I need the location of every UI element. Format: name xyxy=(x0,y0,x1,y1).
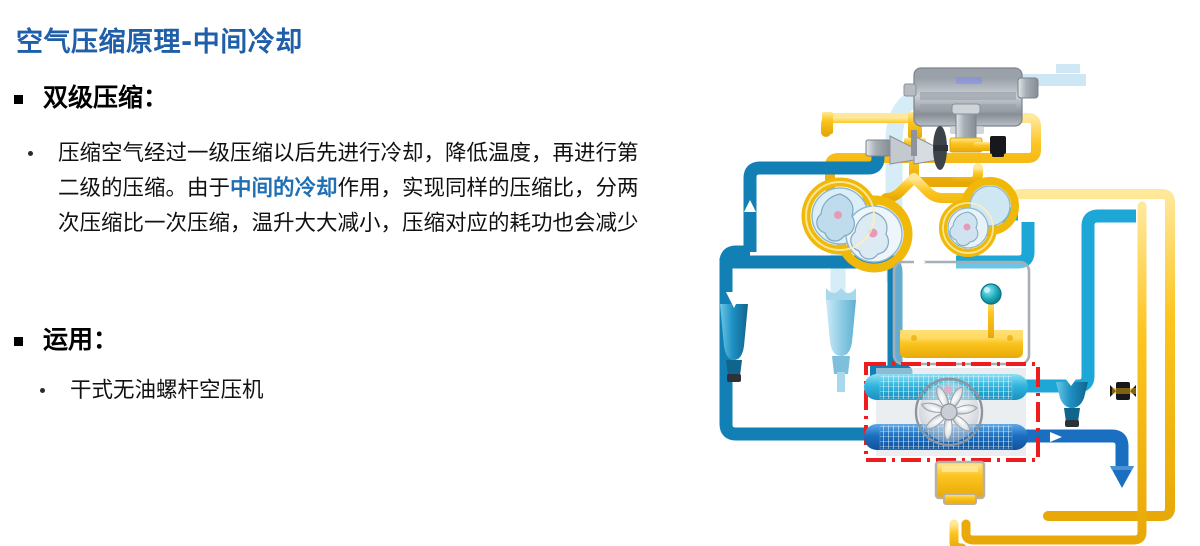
slide-canvas: 空气压缩原理-中间冷却 双级压缩： 压缩空气经过一级压缩以后先进行冷却，降低温度… xyxy=(0,0,1200,546)
compressor-schematic-diagram xyxy=(718,46,1200,546)
air-pipe-to-aftercooler-left xyxy=(726,416,868,434)
section-heading-label: 运用： xyxy=(43,326,118,355)
air-pipe-intercooler-out xyxy=(1024,216,1136,386)
round-bullet-icon xyxy=(40,388,45,393)
oil-reservoir xyxy=(894,262,1029,364)
bullet-application-detail: 干式无油螺杆空压机 xyxy=(40,374,264,409)
oil-line-valve xyxy=(1110,382,1136,400)
page-title: 空气压缩原理-中间冷却 xyxy=(16,20,303,59)
compressed-air-outlet xyxy=(1110,466,1134,488)
air-pipe-stage1-discharge xyxy=(726,262,906,372)
bullet-text: 干式无油螺杆空压机 xyxy=(70,374,264,409)
section-heading-application: 运用： xyxy=(14,326,118,355)
oil-pump xyxy=(936,462,984,504)
square-bullet-icon xyxy=(14,337,23,346)
cooling-fan xyxy=(916,379,982,445)
square-bullet-icon xyxy=(14,95,23,104)
moisture-separator-mid xyxy=(826,288,856,392)
section-heading-dual-compression: 双级压缩： xyxy=(14,84,168,113)
round-bullet-icon xyxy=(28,151,33,156)
text-content-column: 空气压缩原理-中间冷却 双级压缩： 压缩空气经过一级压缩以后先进行冷却，降低温度… xyxy=(0,0,720,546)
body-text-highlight: 中间的冷却 xyxy=(230,176,338,201)
bullet-dual-compression-detail: 压缩空气经过一级压缩以后先进行冷却，降低温度，再进行第二级的压缩。由于中间的冷却… xyxy=(28,137,658,241)
section-heading-label: 双级压缩： xyxy=(43,84,168,113)
bullet-text: 压缩空气经过一级压缩以后先进行冷却，降低温度，再进行第二级的压缩。由于中间的冷却… xyxy=(58,137,658,241)
